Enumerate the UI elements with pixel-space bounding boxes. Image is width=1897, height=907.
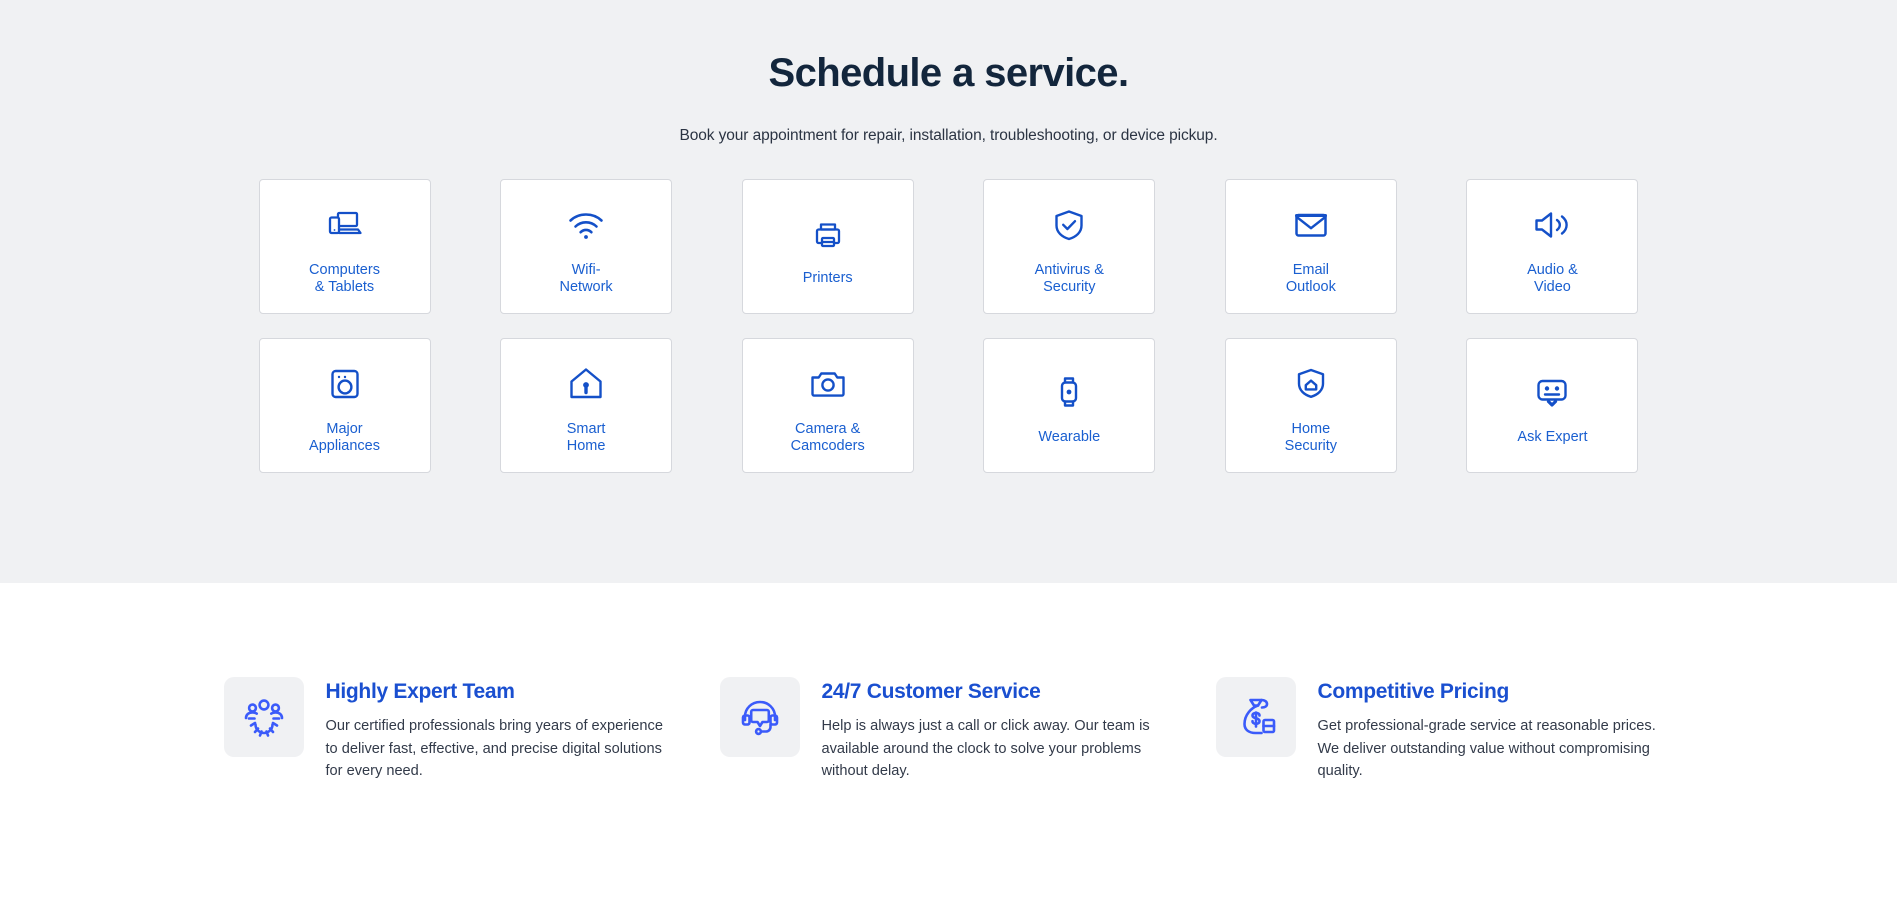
feature-title: Competitive Pricing xyxy=(1318,679,1658,704)
feature-competitive-pricing: Competitive Pricing Get professional-gra… xyxy=(1216,677,1674,783)
feature-description: Help is always just a call or click away… xyxy=(822,715,1162,783)
shield-check-icon xyxy=(1049,198,1089,252)
service-card-camera-camcoders[interactable]: Camera & Camcoders xyxy=(742,338,914,473)
house-keyhole-icon xyxy=(566,357,606,411)
headset-support-icon xyxy=(720,677,800,757)
page-subtitle: Book your appointment for repair, instal… xyxy=(0,127,1897,145)
service-card-smart-home[interactable]: Smart Home xyxy=(500,338,672,473)
feature-customer-service: 24/7 Customer Service Help is always jus… xyxy=(720,677,1178,783)
service-card-label: Printers xyxy=(803,270,853,287)
feature-body: Competitive Pricing Get professional-gra… xyxy=(1318,677,1658,783)
service-card-printers[interactable]: Printers xyxy=(742,179,914,314)
envelope-icon xyxy=(1291,198,1331,252)
service-card-label: Computers & Tablets xyxy=(309,262,380,296)
service-card-wearable[interactable]: Wearable xyxy=(983,338,1155,473)
service-card-ask-expert[interactable]: Ask Expert xyxy=(1466,338,1638,473)
service-card-label: Home Security xyxy=(1285,421,1337,455)
service-card-label: Wearable xyxy=(1038,429,1100,446)
service-card-label: Audio & Video xyxy=(1527,262,1578,296)
money-bag-icon xyxy=(1216,677,1296,757)
team-gear-icon xyxy=(224,677,304,757)
features-section: Highly Expert Team Our certified profess… xyxy=(0,583,1897,907)
camera-icon xyxy=(808,357,848,411)
service-card-major-appliances[interactable]: Major Appliances xyxy=(259,338,431,473)
feature-title: Highly Expert Team xyxy=(326,679,666,704)
service-card-audio-video[interactable]: Audio & Video xyxy=(1466,179,1638,314)
speaker-volume-icon xyxy=(1532,198,1572,252)
service-card-label: Wifi- Network xyxy=(560,262,613,296)
chatbot-icon xyxy=(1532,365,1572,419)
service-card-label: Camera & Camcoders xyxy=(791,421,865,455)
page-title: Schedule a service. xyxy=(0,50,1897,96)
wifi-icon xyxy=(566,198,606,252)
smartwatch-icon xyxy=(1049,365,1089,419)
feature-description: Get professional-grade service at reason… xyxy=(1318,715,1658,783)
printer-icon xyxy=(808,206,848,260)
service-card-label: Email Outlook xyxy=(1286,262,1336,296)
washing-machine-icon xyxy=(325,357,365,411)
features-row: Highly Expert Team Our certified profess… xyxy=(224,677,1674,813)
feature-body: 24/7 Customer Service Help is always jus… xyxy=(822,677,1162,783)
shield-house-icon xyxy=(1291,357,1331,411)
feature-body: Highly Expert Team Our certified profess… xyxy=(326,677,666,783)
service-card-label: Ask Expert xyxy=(1517,429,1587,446)
service-card-label: Smart Home xyxy=(567,421,606,455)
feature-description: Our certified professionals bring years … xyxy=(326,715,666,783)
service-card-email-outlook[interactable]: Email Outlook xyxy=(1225,179,1397,314)
service-card-antivirus-security[interactable]: Antivirus & Security xyxy=(983,179,1155,314)
service-card-grid: Computers & Tablets Wifi- Network xyxy=(259,179,1639,473)
service-card-computers-tablets[interactable]: Computers & Tablets xyxy=(259,179,431,314)
service-card-label: Antivirus & Security xyxy=(1035,262,1104,296)
service-card-home-security[interactable]: Home Security xyxy=(1225,338,1397,473)
service-card-label: Major Appliances xyxy=(309,421,380,455)
feature-title: 24/7 Customer Service xyxy=(822,679,1162,704)
schedule-a-service-section: Schedule a service. Book your appointmen… xyxy=(0,0,1897,583)
feature-highly-expert-team: Highly Expert Team Our certified profess… xyxy=(224,677,682,783)
service-card-wifi-network[interactable]: Wifi- Network xyxy=(500,179,672,314)
laptop-tablet-icon xyxy=(325,198,365,252)
